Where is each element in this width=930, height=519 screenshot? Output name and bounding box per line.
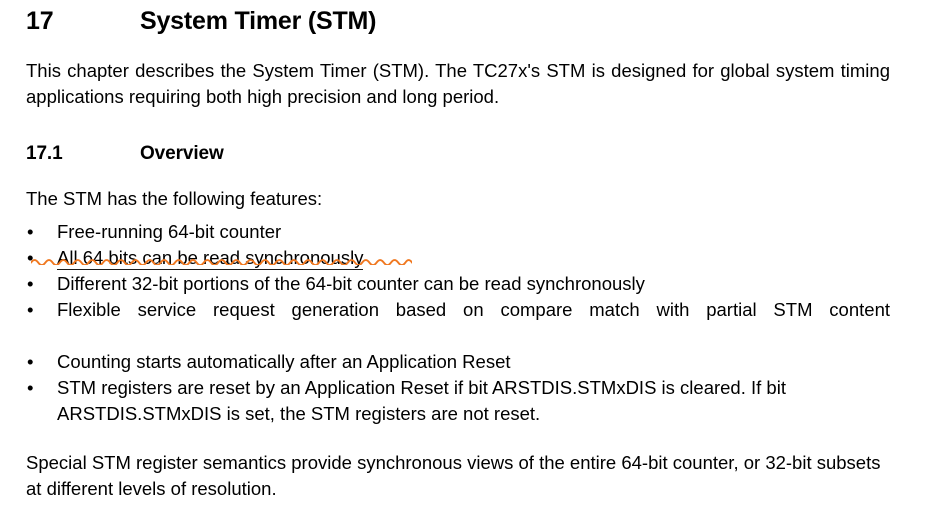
list-item: •Free-running 64-bit counter	[26, 219, 890, 245]
chapter-number: 17	[26, 6, 140, 36]
section-title: Overview	[140, 142, 890, 166]
list-item: •All 64 bits can be read synchronously	[26, 245, 890, 271]
list-item-label: Different 32-bit portions of the 64-bit …	[57, 271, 890, 297]
section-number: 17.1	[26, 142, 140, 166]
list-item: •Different 32-bit portions of the 64-bit…	[26, 271, 890, 297]
chapter-title: System Timer (STM)	[140, 6, 890, 36]
section-heading: 17.1 Overview	[26, 142, 890, 166]
bullet-icon: •	[27, 375, 41, 401]
list-item-label: Flexible service request generation base…	[57, 297, 890, 349]
list-item: •STM registers are reset by an Applicati…	[26, 375, 890, 427]
list-item-label: Free-running 64-bit counter	[57, 219, 890, 245]
list-item-label: Counting starts automatically after an A…	[57, 349, 890, 375]
chapter-heading: 17 System Timer (STM)	[26, 6, 890, 36]
marked-text-run: All 64 bits can be read synchronously	[57, 247, 363, 270]
intro-paragraph: This chapter describes the System Timer …	[26, 58, 890, 110]
bullet-icon: •	[27, 349, 41, 375]
bullet-icon: •	[27, 219, 41, 245]
feature-bullet-list: •Free-running 64-bit counter•All 64 bits…	[26, 219, 890, 427]
list-item: •Flexible service request generation bas…	[26, 297, 890, 349]
list-item-label: STM registers are reset by an Applicatio…	[57, 375, 890, 427]
closing-paragraph: Special STM register semantics provide s…	[26, 450, 890, 502]
list-item: •Counting starts automatically after an …	[26, 349, 890, 375]
list-item-label: All 64 bits can be read synchronously	[57, 245, 890, 271]
bullet-icon: •	[27, 245, 41, 271]
bullet-icon: •	[27, 271, 41, 297]
bullet-icon: •	[27, 297, 41, 323]
document-page: 17 System Timer (STM) This chapter descr…	[0, 0, 930, 519]
features-lead-in: The STM has the following features:	[26, 186, 890, 212]
